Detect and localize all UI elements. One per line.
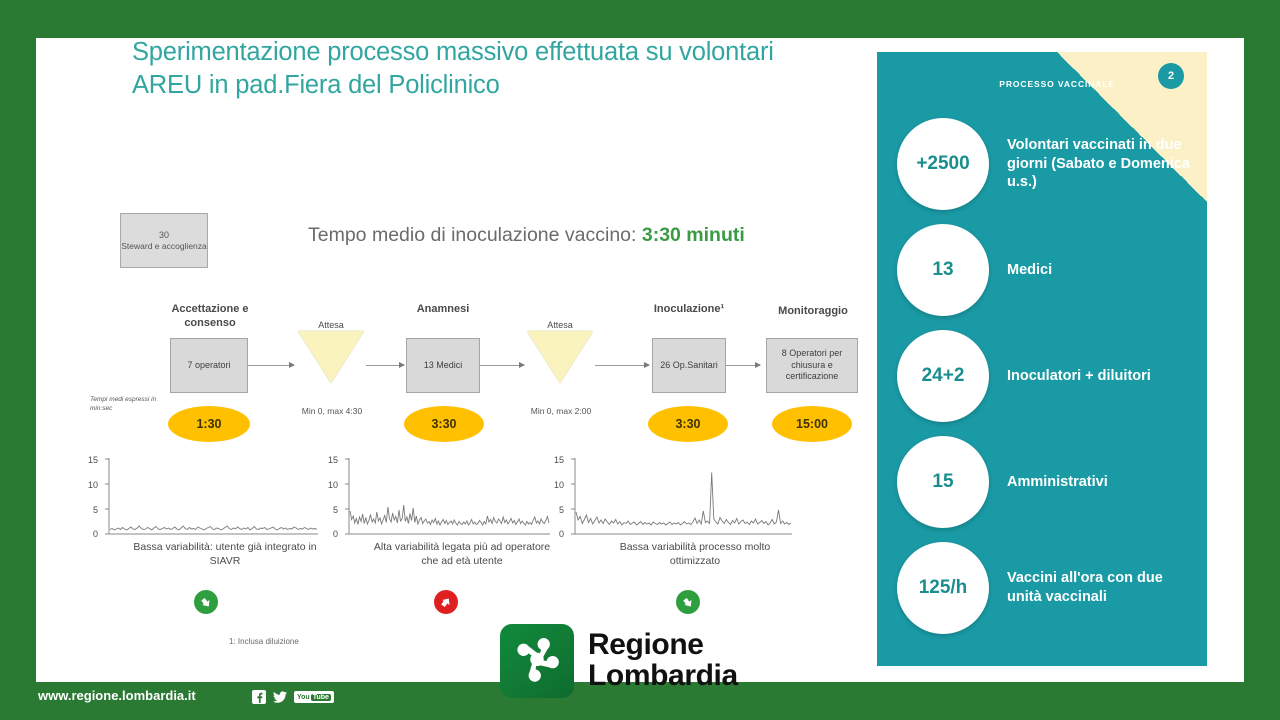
kpi-value-1: +2500 xyxy=(897,118,989,210)
chart-2-caption: Alta variabilità legata più ad operatore… xyxy=(372,540,552,568)
wait-minmax-1: Min 0, max 4:30 xyxy=(296,406,368,417)
svg-text:0: 0 xyxy=(559,529,564,539)
svg-text:5: 5 xyxy=(93,505,98,515)
youtube-you-text: You xyxy=(297,694,310,701)
step-title-3: Inoculazione¹ xyxy=(634,303,744,317)
side-panel: PROCESSO VACCINALE 2 +2500 Volontari vac… xyxy=(877,52,1207,666)
indicator-up-red-icon-2 xyxy=(434,590,458,614)
kpi-item-1: +2500 Volontari vaccinati in due giorni … xyxy=(897,118,1197,210)
chart-1: 15 10 5 0 xyxy=(82,452,322,542)
step-title-1: Accettazione e consenso xyxy=(150,303,270,331)
youtube-icon[interactable]: YouTube xyxy=(294,691,334,703)
twitter-icon[interactable] xyxy=(273,690,287,704)
indicator-down-green-icon-1 xyxy=(194,590,218,614)
regione-lombardia-logo: Regione Lombardia xyxy=(500,624,738,698)
kpi-value-5: 125/h xyxy=(897,542,989,634)
connector-arrow-5 xyxy=(755,362,761,368)
chart-3: 15 10 5 0 xyxy=(548,452,796,542)
kpi-item-2: 13 Medici xyxy=(897,224,1197,316)
logo-line-1: Regione xyxy=(588,630,738,661)
step-title-4: Monitoraggio xyxy=(755,305,871,319)
kpi-value-2: 13 xyxy=(897,224,989,316)
svg-text:10: 10 xyxy=(554,480,564,490)
panel-kicker: PROCESSO VACCINALE xyxy=(999,79,1115,89)
connector-4 xyxy=(595,365,649,366)
wait-label-1: Attesa xyxy=(296,320,366,330)
wait-label-2: Attesa xyxy=(525,320,595,330)
chart-3-axis: 15 10 5 0 xyxy=(554,455,564,539)
chart-2: 15 10 5 0 xyxy=(322,452,554,542)
youtube-tube-text: Tube xyxy=(311,694,331,701)
step-box-3: 26 Op.Sanitari xyxy=(652,338,726,393)
wait-triangle-icon-2 xyxy=(527,331,593,383)
indicator-down-green-icon-3 xyxy=(676,590,700,614)
chart-1-axis: 15 10 5 0 xyxy=(88,455,98,539)
step-time-3: 3:30 xyxy=(648,406,728,442)
chart-2-svg: 15 10 5 0 xyxy=(322,452,554,542)
wait-2: Attesa xyxy=(525,320,595,383)
step-time-2: 3:30 xyxy=(404,406,484,442)
svg-text:0: 0 xyxy=(93,529,98,539)
connector-arrow-4 xyxy=(644,362,650,368)
kpi-label-2: Medici xyxy=(1007,261,1052,280)
chart-2-axis: 15 10 5 0 xyxy=(328,455,338,539)
facebook-icon[interactable] xyxy=(252,690,266,704)
slide-root: Sperimentazione processo massivo effettu… xyxy=(0,0,1280,720)
wait-triangle-icon-1 xyxy=(298,331,364,383)
panel-number-badge: 2 xyxy=(1158,63,1184,89)
connector-arrow-2 xyxy=(399,362,405,368)
kpi-label-3: Inoculatori + diluitori xyxy=(1007,367,1151,386)
kpi-item-4: 15 Amministrativi xyxy=(897,436,1197,528)
step-time-4: 15:00 xyxy=(772,406,852,442)
footer-social: YouTube xyxy=(252,690,334,704)
svg-text:0: 0 xyxy=(333,529,338,539)
kpi-label-4: Amministrativi xyxy=(1007,473,1108,492)
kpi-label-1: Volontari vaccinati in due giorni (Sabat… xyxy=(1007,136,1197,193)
chart-3-svg: 15 10 5 0 xyxy=(548,452,796,542)
connector-arrow-1 xyxy=(289,362,295,368)
wait-minmax-2: Min 0, max 2:00 xyxy=(525,406,597,417)
footnote: 1: Inclusa diluizione xyxy=(229,637,299,646)
svg-text:10: 10 xyxy=(328,480,338,490)
connector-1 xyxy=(248,365,294,366)
step-title-2: Anamnesi xyxy=(385,303,501,317)
logo-line-2: Lombardia xyxy=(588,661,738,692)
svg-text:5: 5 xyxy=(559,505,564,515)
wait-1: Attesa xyxy=(296,320,366,383)
kpi-item-5: 125/h Vaccini all'ora con due unità vacc… xyxy=(897,542,1197,634)
rosa-camuna-icon xyxy=(500,624,574,698)
svg-text:15: 15 xyxy=(88,455,98,465)
step-box-1: 7 operatori xyxy=(170,338,248,393)
step-box-4: 8 Operatori per chiusura e certificazion… xyxy=(766,338,858,393)
kpi-value-4: 15 xyxy=(897,436,989,528)
kpi-value-3: 24+2 xyxy=(897,330,989,422)
svg-text:15: 15 xyxy=(554,455,564,465)
svg-text:15: 15 xyxy=(328,455,338,465)
logo-wordmark: Regione Lombardia xyxy=(588,630,738,691)
svg-text:10: 10 xyxy=(88,480,98,490)
footer-url[interactable]: www.regione.lombardia.it xyxy=(38,688,196,703)
svg-text:5: 5 xyxy=(333,505,338,515)
chart-3-caption: Bassa variabilità processo molto ottimiz… xyxy=(600,540,790,568)
kpi-item-3: 24+2 Inoculatori + diluitori xyxy=(897,330,1197,422)
step-time-1: 1:30 xyxy=(168,406,250,442)
step-box-2: 13 Medici xyxy=(406,338,480,393)
connector-3 xyxy=(480,365,524,366)
chart-1-svg: 15 10 5 0 xyxy=(82,452,322,542)
kpi-label-5: Vaccini all'ora con due unità vaccinali xyxy=(1007,569,1197,607)
chart-1-caption: Bassa variabilità: utente già integrato … xyxy=(130,540,320,568)
